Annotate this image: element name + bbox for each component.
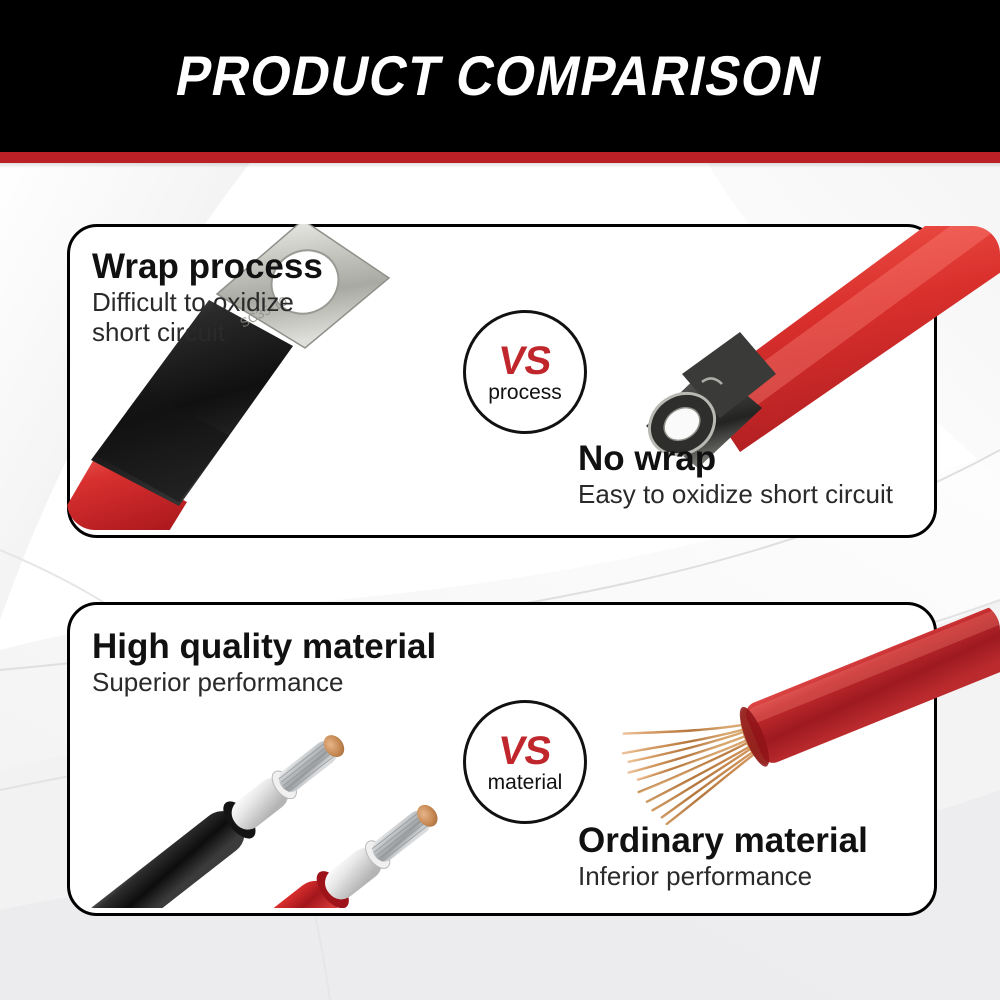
header-bar: PRODUCT COMPARISON bbox=[0, 0, 1000, 152]
ordinary-material-subtext: Inferior performance bbox=[578, 861, 868, 892]
no-wrap-heading: No wrap bbox=[578, 440, 893, 479]
no-wrap-subtext: Easy to oxidize short circuit bbox=[578, 479, 893, 510]
vs-category-label: material bbox=[488, 772, 563, 793]
page-title: PRODUCT COMPARISON bbox=[172, 48, 828, 104]
wrap-process-text-block: Wrap process Difficult to oxidize short … bbox=[92, 248, 323, 348]
high-quality-material-heading: High quality material bbox=[92, 628, 436, 667]
header-stripe-shadow bbox=[0, 163, 1000, 168]
vs-badge-material: VS material bbox=[463, 700, 587, 824]
wrap-process-heading: Wrap process bbox=[92, 248, 323, 287]
product-comparison-infographic: PRODUCT COMPARISON bbox=[0, 0, 1000, 1000]
vs-label: VS bbox=[497, 342, 554, 380]
ordinary-material-text-block: Ordinary material Inferior performance bbox=[578, 822, 868, 891]
ordinary-material-heading: Ordinary material bbox=[578, 822, 868, 861]
high-quality-material-text-block: High quality material Superior performan… bbox=[92, 628, 436, 697]
wrap-process-subtext: Difficult to oxidize short circuit bbox=[92, 287, 323, 348]
no-wrap-text-block: No wrap Easy to oxidize short circuit bbox=[578, 440, 893, 509]
header-red-stripe bbox=[0, 152, 1000, 163]
vs-category-label: process bbox=[488, 382, 562, 403]
vs-label: VS bbox=[497, 732, 554, 770]
vs-badge-process: VS process bbox=[463, 310, 587, 434]
high-quality-material-subtext: Superior performance bbox=[92, 667, 436, 698]
